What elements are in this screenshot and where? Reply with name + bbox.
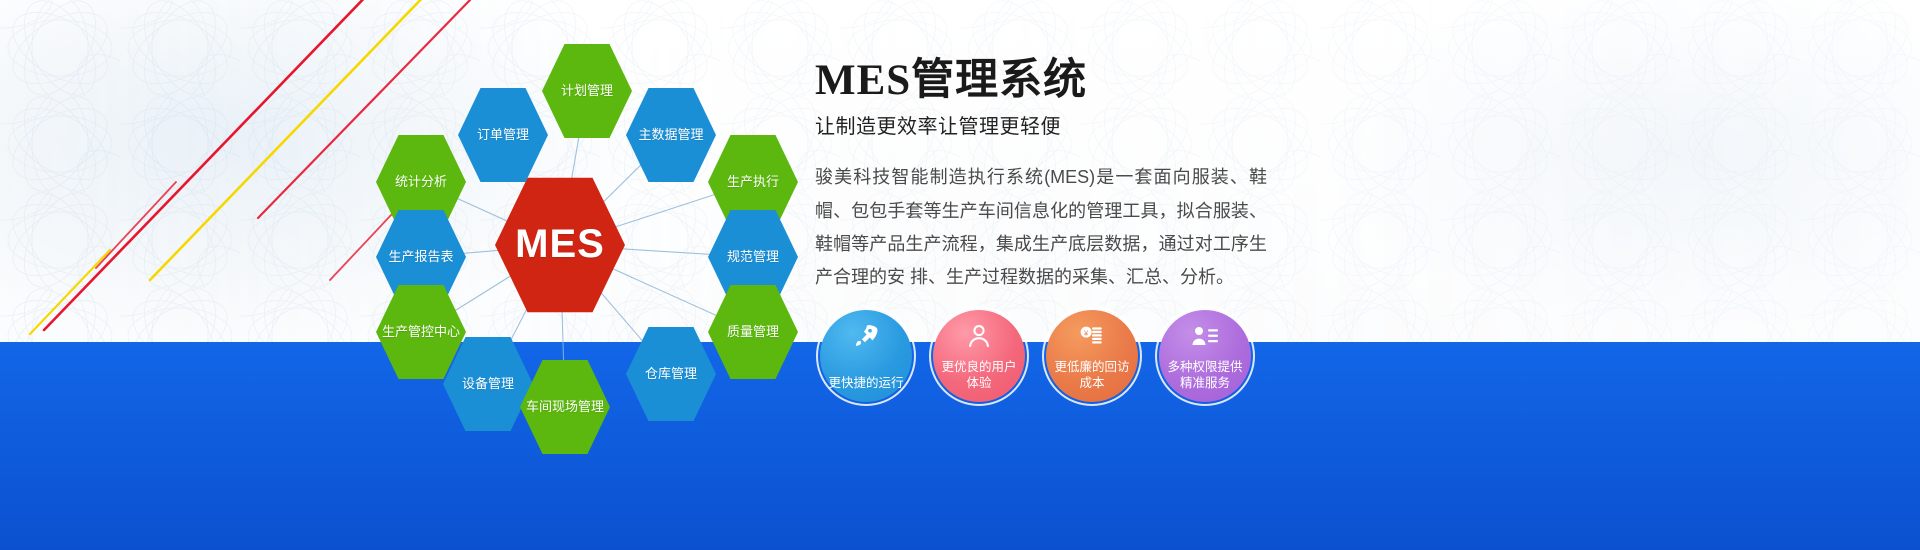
feature-circle-0[interactable]: 更快捷的运行 <box>820 310 912 402</box>
hex-node-label: 生产报告表 <box>382 249 459 264</box>
hex-node-label: 计划管理 <box>555 83 619 98</box>
mes-promo-banner: MES计划管理订单管理主数据管理统计分析生产执行生产报告表规范管理生产管控中心质… <box>0 0 1920 550</box>
feature-circle-label: 多种权限提供精准服务 <box>1159 359 1251 391</box>
feature-circle-1[interactable]: 更优良的用户体验 <box>933 310 1025 402</box>
hex-node-label: MES <box>509 221 611 268</box>
feature-circle-list: 更快捷的运行更优良的用户体验¥更低廉的回访成本多种权限提供精准服务 <box>820 310 1270 415</box>
hex-node-label: 设备管理 <box>456 376 520 391</box>
hex-node-label: 仓库管理 <box>639 366 703 381</box>
hex-node-label: 生产执行 <box>721 174 785 189</box>
hex-node-label: 生产管控中心 <box>376 324 466 339</box>
user-list-icon <box>1159 321 1251 351</box>
hex-node-label: 质量管理 <box>721 324 785 339</box>
page-title: MES管理系统 <box>815 58 1885 104</box>
feature-circle-label: 更优良的用户体验 <box>933 359 1025 391</box>
feature-circle-label: 更低廉的回访成本 <box>1046 359 1138 391</box>
hex-node-label: 规范管理 <box>721 249 785 264</box>
mes-hexagon-diagram: MES计划管理订单管理主数据管理统计分析生产执行生产报告表规范管理生产管控中心质… <box>330 20 790 440</box>
page-subtitle: 让制造更效率让管理更轻便 <box>815 110 1885 139</box>
hex-node-label: 车间现场管理 <box>520 399 610 414</box>
hex-node-label: 统计分析 <box>389 174 453 189</box>
user-icon <box>933 321 1025 351</box>
feature-circle-2[interactable]: ¥更低廉的回访成本 <box>1046 310 1138 402</box>
hex-node-label: 订单管理 <box>471 127 535 142</box>
rocket-icon <box>820 321 912 351</box>
description-paragraph: 骏美科技智能制造执行系统(MES)是一套面向服装、鞋帽、包包手套等生产车间信息化… <box>815 161 1267 294</box>
hex-node-label: 主数据管理 <box>632 127 709 142</box>
banner-text-block: MES管理系统 让制造更效率让管理更轻便 骏美科技智能制造执行系统(MES)是一… <box>815 58 1885 295</box>
feature-circle-3[interactable]: 多种权限提供精准服务 <box>1159 310 1251 402</box>
feature-circle-label: 更快捷的运行 <box>822 375 909 391</box>
money-coin-icon: ¥ <box>1046 321 1138 351</box>
